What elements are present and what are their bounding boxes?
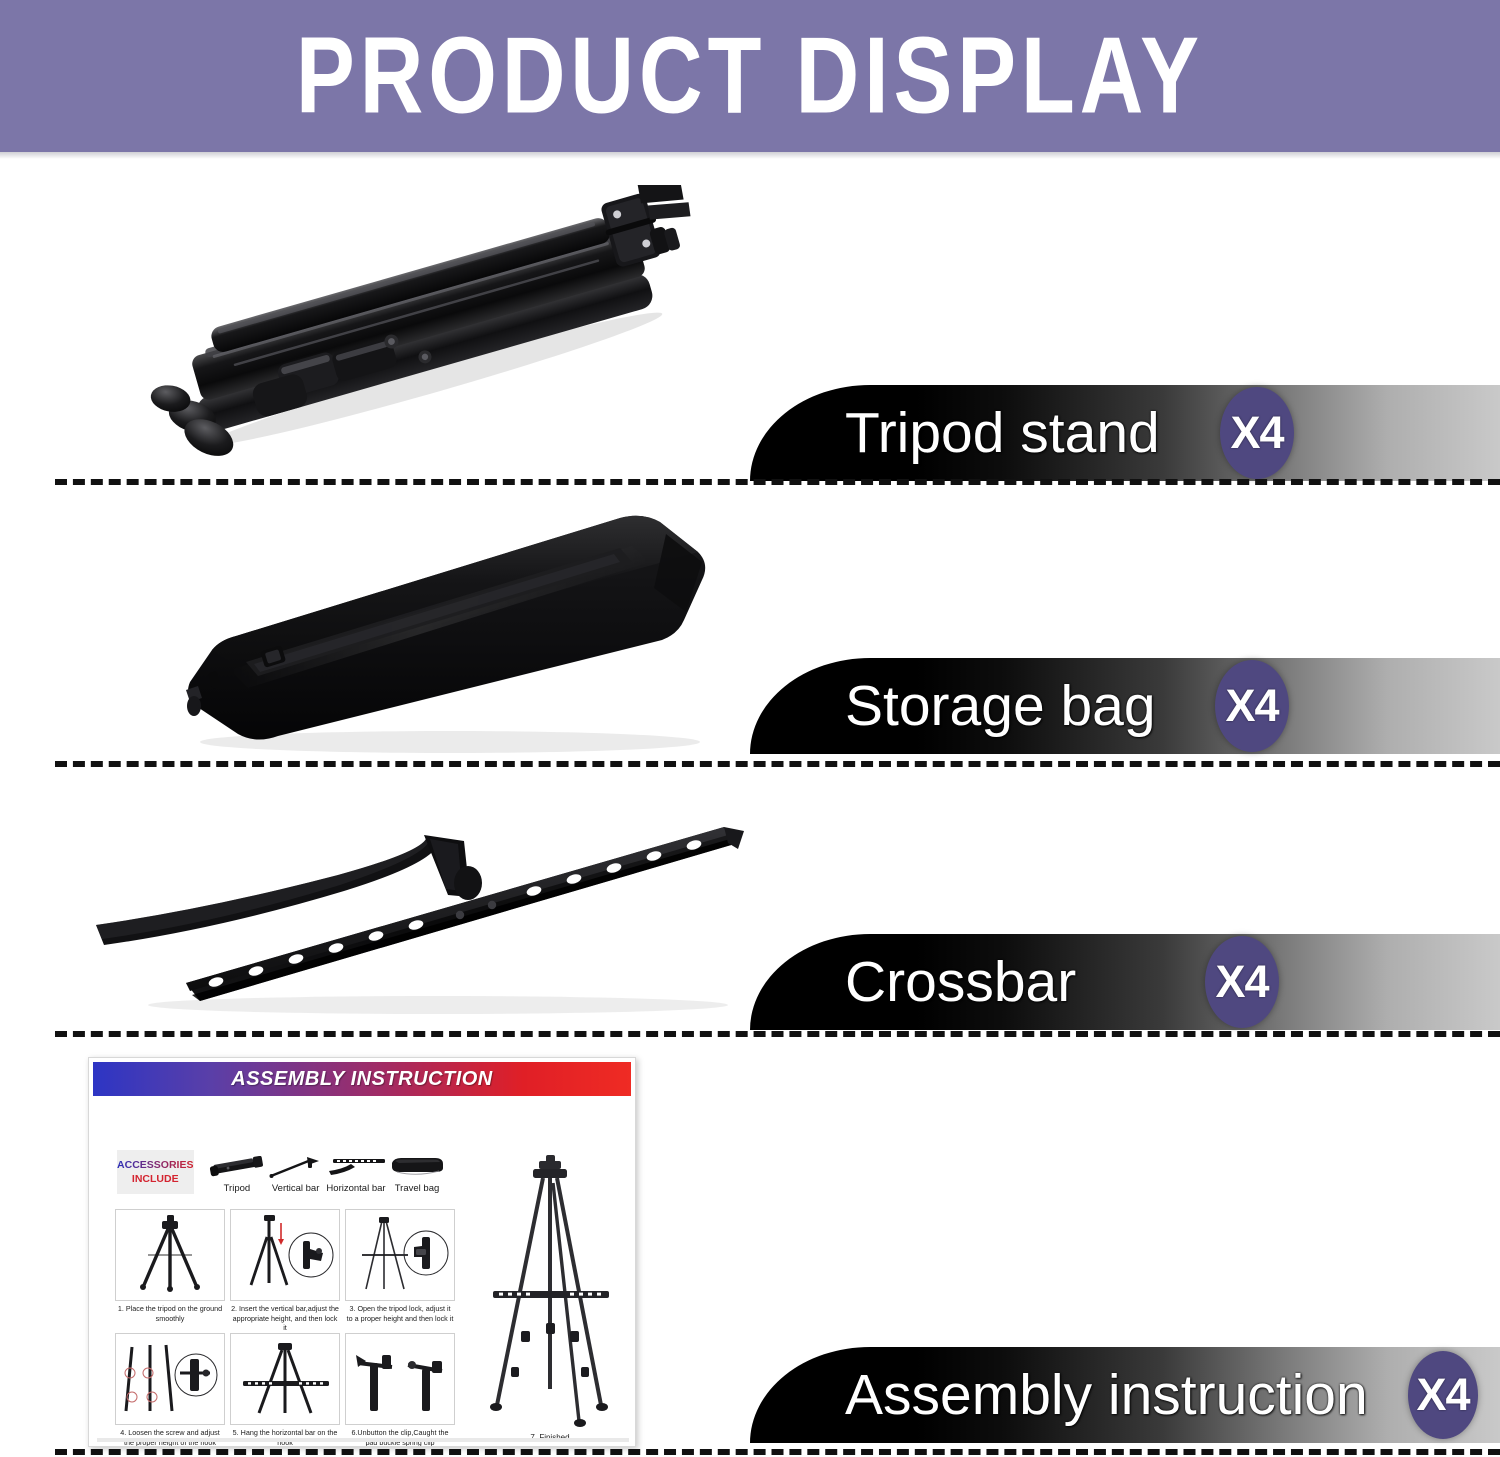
product-label-text: Crossbar [845, 949, 1076, 1015]
section-divider-4 [55, 1449, 1500, 1455]
step-illustration-4 [115, 1333, 225, 1425]
travel-bag-icon [387, 1154, 447, 1180]
assembly-step: 1. Place the tripod on the ground smooth… [115, 1209, 225, 1329]
accessories-tag-line-1: ACCESSORIES [117, 1159, 193, 1171]
page-title: PRODUCT DISPLAY [296, 22, 1204, 131]
finished-easel-panel: 7. Finished [471, 1142, 629, 1442]
quantity-badge-text: X4 [1215, 956, 1268, 1008]
quantity-badge: X4 [1220, 387, 1294, 479]
assembly-instruction-sheet-photo: ASSEMBLY INSTRUCTION ACCESSORIES INCLUDE [88, 1057, 636, 1447]
section-divider-2 [55, 761, 1500, 767]
product-label-banner-storage-bag: Storage bag X4 [750, 658, 1500, 754]
product-label-banner-assembly-instruction: Assembly instruction X4 [750, 1347, 1500, 1443]
accessories-row: ACCESSORIES INCLUDE Tripod [117, 1146, 447, 1194]
step-illustration-3 [345, 1209, 455, 1301]
step-caption: 3. Open the tripod lock, adjust it to a … [345, 1304, 455, 1323]
accessories-tag-line-2: INCLUDE [132, 1173, 179, 1185]
quantity-badge: X4 [1215, 660, 1289, 752]
poster-header-bar: ASSEMBLY INSTRUCTION [93, 1062, 631, 1096]
step-caption: 1. Place the tripod on the ground smooth… [115, 1304, 225, 1323]
quantity-badge-text: X4 [1225, 680, 1278, 732]
folded-tripod-icon [208, 1154, 266, 1180]
quantity-badge-text: X4 [1230, 407, 1283, 459]
finished-easel-icon [475, 1153, 625, 1431]
product-label-banner-crossbar: Crossbar X4 [750, 934, 1500, 1030]
folded-tripod-stand-photo [120, 185, 720, 465]
accessory-caption: Travel bag [395, 1183, 440, 1194]
quantity-badge: X4 [1408, 1351, 1478, 1439]
step-caption: 2. Insert the vertical bar,adjust the ap… [230, 1304, 340, 1333]
quantity-badge: X4 [1205, 936, 1279, 1028]
assembly-step: 3. Open the tripod lock, adjust it to a … [345, 1209, 455, 1329]
crossbar-with-holes-photo [88, 805, 748, 1020]
assembly-steps-grid: 1. Place the tripod on the ground smooth… [115, 1209, 455, 1447]
vertical-bar-icon [267, 1154, 325, 1180]
section-divider-1 [55, 479, 1500, 485]
poster-body: ACCESSORIES INCLUDE Tripod [89, 1096, 635, 1447]
accessory-item-horizontal-bar: Horizontal bar [325, 1148, 387, 1194]
assembly-step: 2. Insert the vertical bar,adjust the ap… [230, 1209, 340, 1329]
product-label-text: Assembly instruction [845, 1362, 1368, 1428]
header-shadow [0, 152, 1500, 159]
product-label-text: Storage bag [845, 673, 1156, 739]
step-illustration-1 [115, 1209, 225, 1301]
accessory-caption: Horizontal bar [326, 1183, 385, 1194]
assembly-step: 4. Loosen the screw and adjust the prope… [115, 1333, 225, 1447]
page-header-bar: PRODUCT DISPLAY [0, 0, 1500, 152]
accessory-caption: Vertical bar [272, 1183, 320, 1194]
accessory-item-tripod: Tripod [208, 1148, 267, 1194]
assembly-step: 5. Hang the horizontal bar on the hook [230, 1333, 340, 1447]
quantity-badge-text: X4 [1416, 1369, 1469, 1421]
product-label-text: Tripod stand [845, 400, 1160, 466]
black-storage-bag-photo [150, 500, 730, 760]
accessory-caption: Tripod [224, 1183, 251, 1194]
assembly-step: 6.Unbutton the clip,Caught the pad buckl… [345, 1333, 455, 1447]
poster-footer-rule [97, 1438, 629, 1442]
section-divider-3 [55, 1031, 1500, 1037]
accessories-include-tag: ACCESSORIES INCLUDE [117, 1150, 194, 1194]
accessory-item-travel-bag: Travel bag [387, 1148, 447, 1194]
step-illustration-6 [345, 1333, 455, 1425]
poster-title: ASSEMBLY INSTRUCTION [231, 1068, 493, 1091]
product-label-banner-tripod-stand: Tripod stand X4 [750, 385, 1500, 481]
step-illustration-2 [230, 1209, 340, 1301]
accessory-item-vertical-bar: Vertical bar [266, 1148, 325, 1194]
step-illustration-5 [230, 1333, 340, 1425]
horizontal-bar-icon [325, 1154, 387, 1180]
